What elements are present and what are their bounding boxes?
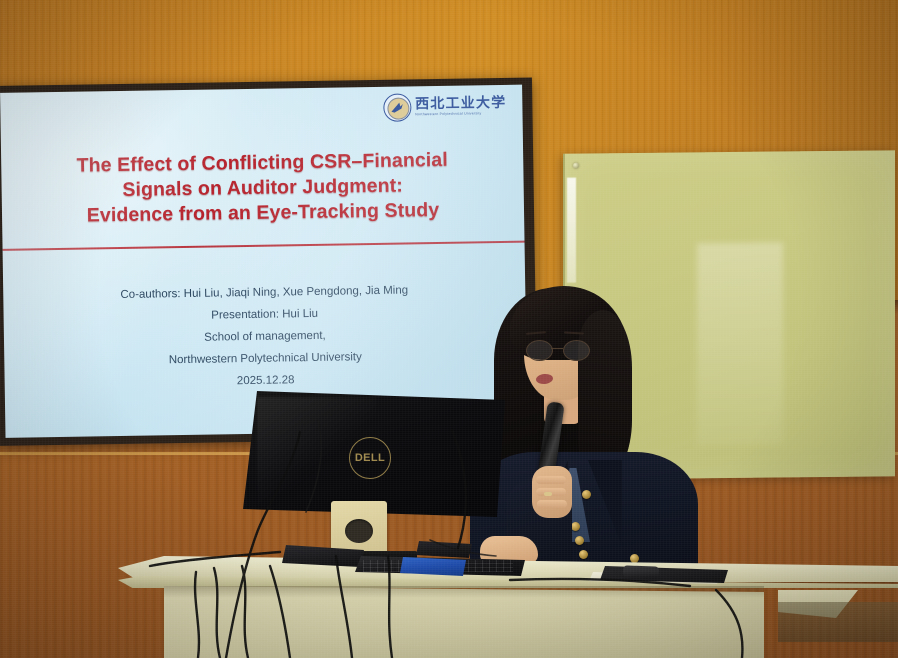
monitor-stand-hole	[345, 519, 373, 543]
university-logo: 西北工业大学 Northwestern Polytechnical Univer…	[383, 92, 507, 122]
slide-body-text: Co-authors: Hui Liu, Jiaqi Ning, Xue Pen…	[3, 278, 527, 396]
glasses-icon	[522, 340, 598, 360]
dell-monitor: DELL	[243, 391, 505, 561]
whiteboard-highlight-strip	[567, 178, 576, 283]
dell-logo: DELL	[349, 437, 391, 479]
desk-underside-shadow	[778, 602, 898, 642]
whiteboard-screw-icon	[573, 163, 579, 169]
jacket-lapel-right	[588, 460, 622, 546]
blue-remote[interactable]	[400, 557, 466, 576]
desk-skirt-shadow	[164, 586, 764, 598]
presenter-hand-holding-mic	[532, 466, 572, 518]
presentation-slide: 西北工业大学 Northwestern Polytechnical Univer…	[0, 85, 527, 438]
logo-english-name: Northwestern Polytechnical University	[415, 112, 506, 117]
bird-emblem-icon	[390, 101, 404, 115]
slide-title: The Effect of Conflicting CSR–Financial …	[1, 147, 524, 230]
jacket-button	[582, 490, 591, 499]
slide-divider-rule	[3, 241, 525, 251]
jacket-button	[571, 522, 580, 531]
university-seal-icon	[383, 93, 411, 121]
logo-chinese-name: 西北工业大学	[415, 96, 506, 111]
jacket-button	[575, 536, 584, 545]
device-box	[416, 541, 472, 558]
photo-scene: 西北工业大学 Northwestern Polytechnical Univer…	[0, 0, 898, 658]
black-remote[interactable]	[623, 565, 659, 578]
finger-ring	[544, 492, 552, 496]
